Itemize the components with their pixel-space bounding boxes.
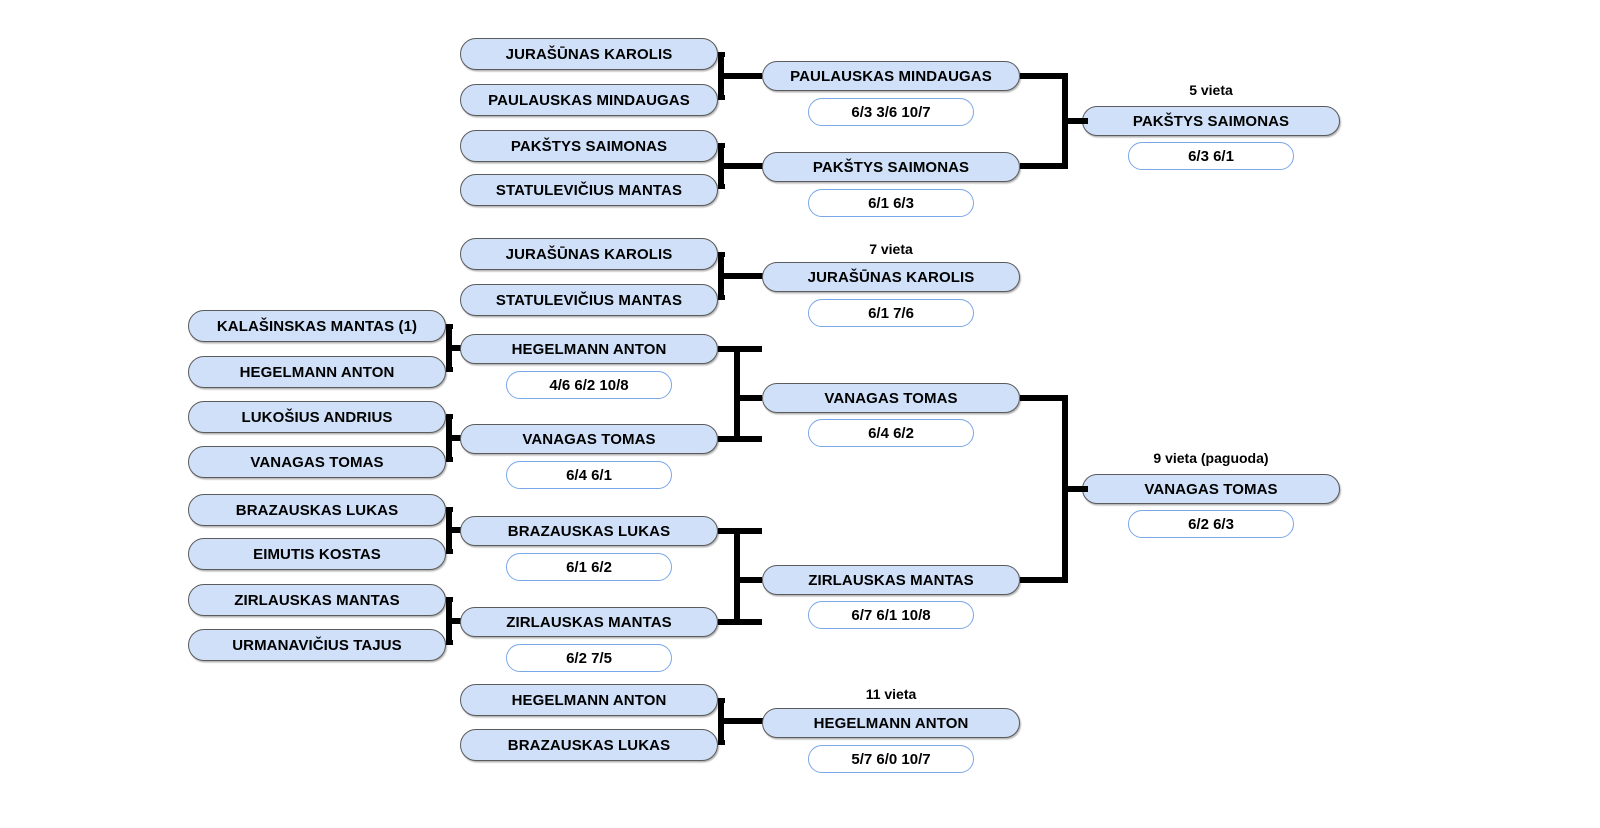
bracket-connector	[724, 718, 766, 724]
round3-winner[interactable]: ZIRLAUSKAS MANTAS	[762, 565, 1020, 595]
bracket-connector	[1068, 486, 1088, 492]
round2-score: 6/3 3/6 10/7	[808, 98, 974, 126]
round1-player[interactable]: VANAGAS TOMAS	[188, 446, 446, 478]
bracket-connector	[724, 73, 762, 79]
round2-winner[interactable]: BRAZAUSKAS LUKAS	[460, 516, 718, 546]
bracket-connector	[718, 436, 762, 442]
round2-score: 4/6 6/2 10/8	[506, 371, 672, 399]
round1-player[interactable]: KALAŠINSKAS MANTAS (1)	[188, 310, 446, 342]
round2-score: 6/2 7/5	[506, 644, 672, 672]
bracket-connector	[718, 619, 762, 625]
round1-player[interactable]: LUKOŠIUS ANDRIUS	[188, 401, 446, 433]
bracket-connector	[1020, 577, 1068, 583]
round2-score: 6/4 6/1	[506, 461, 672, 489]
bracket-connector	[718, 528, 762, 534]
round1-player[interactable]: EIMUTIS KOSTAS	[188, 538, 446, 570]
round2-score: 6/1 6/3	[808, 189, 974, 217]
bracket-connector	[446, 457, 453, 462]
round2-winner[interactable]: PAULAUSKAS MINDAUGAS	[762, 61, 1020, 91]
round2-winner[interactable]: HEGELMANN ANTON	[460, 334, 718, 364]
place-label: 5 vieta	[1082, 81, 1340, 99]
round2-winner[interactable]: VANAGAS TOMAS	[460, 424, 718, 454]
final-winner[interactable]: VANAGAS TOMAS	[1082, 474, 1340, 504]
place-label: 11 vieta	[762, 685, 1020, 703]
final-winner[interactable]: PAKŠTYS SAIMONAS	[1082, 106, 1340, 136]
bracket-connector	[1020, 395, 1068, 401]
bracket-connector	[1020, 163, 1068, 169]
round2-winner[interactable]: PAKŠTYS SAIMONAS	[762, 152, 1020, 182]
round2-winner[interactable]: JURAŠŪNAS KAROLIS	[762, 262, 1020, 292]
round1-player[interactable]: URMANAVIČIUS TAJUS	[188, 629, 446, 661]
bracket-connector	[718, 740, 725, 745]
round2-score: 6/1 6/2	[506, 553, 672, 581]
tournament-bracket: JURAŠŪNAS KAROLIS PAULAUSKAS MINDAUGAS P…	[0, 0, 1600, 828]
round1-player[interactable]: HEGELMANN ANTON	[460, 684, 718, 716]
round1-player[interactable]: HEGELMANN ANTON	[188, 356, 446, 388]
bracket-connector	[740, 395, 762, 401]
bracket-connector	[1068, 118, 1088, 124]
bracket-connector	[724, 163, 766, 169]
final-score: 6/2 6/3	[1128, 510, 1294, 538]
round1-player[interactable]: BRAZAUSKAS LUKAS	[460, 729, 718, 761]
place-label: 7 vieta	[762, 240, 1020, 258]
round1-player[interactable]: BRAZAUSKAS LUKAS	[188, 494, 446, 526]
round2-winner[interactable]: ZIRLAUSKAS MANTAS	[460, 607, 718, 637]
bracket-connector	[446, 549, 453, 554]
bracket-connector	[718, 184, 725, 189]
round2-winner[interactable]: HEGELMANN ANTON	[762, 708, 1020, 738]
bracket-connector	[718, 346, 762, 352]
round3-winner[interactable]: VANAGAS TOMAS	[762, 383, 1020, 413]
bracket-connector	[734, 346, 740, 442]
bracket-connector	[718, 295, 725, 300]
round1-player[interactable]: STATULEVIČIUS MANTAS	[460, 284, 718, 316]
round1-player[interactable]: JURAŠŪNAS KAROLIS	[460, 38, 718, 70]
place-label: 9 vieta (paguoda)	[1082, 449, 1340, 467]
round1-player[interactable]: STATULEVIČIUS MANTAS	[460, 174, 718, 206]
round1-player[interactable]: ZIRLAUSKAS MANTAS	[188, 584, 446, 616]
round3-score: 6/4 6/2	[808, 419, 974, 447]
bracket-connector	[446, 640, 453, 645]
round2-score: 6/1 7/6	[808, 299, 974, 327]
round1-player[interactable]: PAULAUSKAS MINDAUGAS	[460, 84, 718, 116]
round2-score: 5/7 6/0 10/7	[808, 745, 974, 773]
round1-player[interactable]: JURAŠŪNAS KAROLIS	[460, 238, 718, 270]
bracket-connector	[1020, 73, 1068, 79]
bracket-connector	[740, 577, 762, 583]
bracket-connector	[446, 367, 453, 372]
bracket-connector	[724, 273, 766, 279]
bracket-connector	[718, 95, 725, 100]
final-score: 6/3 6/1	[1128, 142, 1294, 170]
round1-player[interactable]: PAKŠTYS SAIMONAS	[460, 130, 718, 162]
round3-score: 6/7 6/1 10/8	[808, 601, 974, 629]
